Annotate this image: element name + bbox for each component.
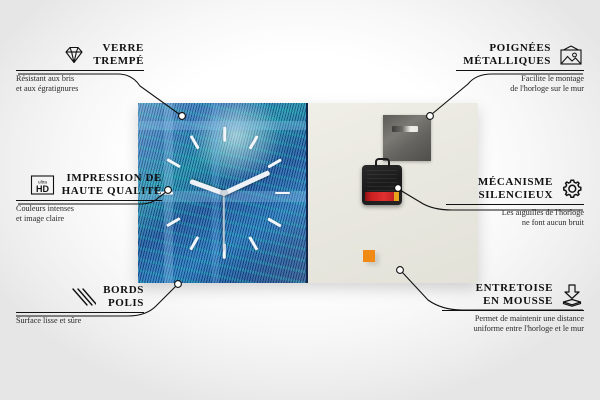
- mechanism-hanging-loop: [375, 158, 390, 167]
- infographic-canvas: VERRE TREMPÉ Résistant aux bris et aux é…: [0, 0, 600, 400]
- callout-subtitle: Couleurs intenses et image claire: [16, 204, 162, 224]
- callout-title: POIGNÉES MÉTALLIQUES: [463, 42, 551, 67]
- callout-rule: [456, 70, 584, 71]
- callout-entretoise-en-mousse[interactable]: ENTRETOISE EN MOUSSE Permet de maintenir…: [442, 282, 584, 334]
- diamond-icon: [62, 45, 86, 65]
- callout-title: MÉCANISME SILENCIEUX: [478, 176, 553, 201]
- hanger-plate: [383, 115, 431, 161]
- callout-rule: [16, 70, 144, 71]
- callout-rule: [16, 312, 144, 313]
- callout-impression-haute-qualite[interactable]: ultra HD IMPRESSION DE HAUTE QUALITÉ Cou…: [16, 172, 162, 224]
- product-image: [138, 103, 478, 283]
- mechanism-housing: [367, 170, 397, 191]
- battery-terminal: [394, 192, 399, 201]
- foam-spacer: [363, 250, 375, 262]
- callout-title: IMPRESSION DE HAUTE QUALITÉ: [62, 172, 162, 197]
- clock-mechanism: [362, 165, 402, 205]
- callout-title: BORDS POLIS: [103, 284, 144, 309]
- callout-verre-trempe[interactable]: VERRE TREMPÉ Résistant aux bris et aux é…: [16, 42, 144, 94]
- callout-rule: [446, 204, 584, 205]
- hour-marker: [223, 127, 226, 142]
- callout-subtitle: Surface lisse et sûre: [16, 316, 144, 326]
- callout-title: ENTRETOISE EN MOUSSE: [476, 282, 553, 307]
- callout-subtitle: Les aiguilles de l'horloge ne font aucun…: [446, 208, 584, 228]
- callout-rule: [16, 200, 162, 201]
- callout-poignees-metalliques[interactable]: POIGNÉES MÉTALLIQUES Facilite le montage…: [456, 42, 584, 94]
- polished-edges-icon: [70, 286, 96, 308]
- ultra-hd-icon: ultra HD: [30, 174, 55, 196]
- wall-mount-icon: [558, 44, 584, 66]
- gear-icon: [560, 177, 584, 201]
- callout-rule: [442, 310, 584, 311]
- callout-subtitle: Résistant aux bris et aux égratignures: [16, 74, 144, 94]
- svg-text:HD: HD: [36, 184, 49, 194]
- second-hand: [223, 193, 225, 251]
- hanger-slot-icon: [392, 126, 418, 132]
- foam-spacer-icon: [560, 283, 584, 307]
- callout-subtitle: Facilite le montage de l'horloge sur le …: [456, 74, 584, 94]
- callout-title: VERRE TREMPÉ: [93, 42, 144, 67]
- hour-marker: [275, 192, 290, 195]
- hand-center-cap: [221, 190, 227, 196]
- callout-subtitle: Permet de maintenir une distance uniform…: [442, 314, 584, 334]
- callout-mecanisme-silencieux[interactable]: MÉCANISME SILENCIEUX Les aiguilles de l'…: [446, 176, 584, 228]
- clock-face: [138, 103, 308, 283]
- callout-bords-polis[interactable]: BORDS POLIS Surface lisse et sûre: [16, 284, 144, 326]
